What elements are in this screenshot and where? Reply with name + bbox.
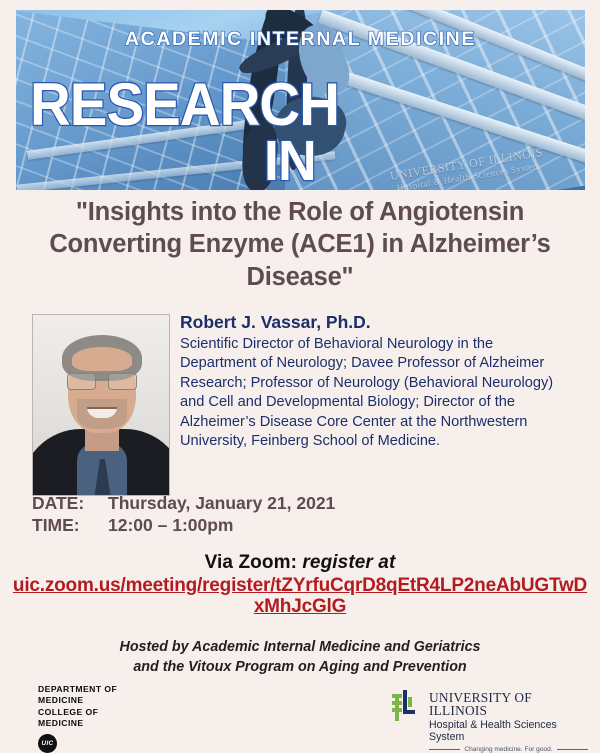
time-label: TIME: [32,514,108,536]
uofi-mark-icon [392,690,422,721]
uofi-logo-title: UNIVERSITY OF ILLINOIS [429,691,588,718]
banner-word-in-practice: IN PRACTICE [264,128,566,190]
date-value: Thursday, January 21, 2021 [108,492,335,514]
uic-logo-line-1: DEPARTMENT OF [38,684,198,695]
registration-lead-text: Via Zoom: [205,552,297,573]
registration-lead-italic: register at [302,552,395,573]
registration-lead: Via Zoom: register at [8,552,592,574]
talk-title: "Insights into the Role of Angiotensin C… [26,196,574,293]
event-details: DATE: Thursday, January 21, 2021 TIME: 1… [32,492,335,537]
registration-link[interactable]: uic.zoom.us/meeting/register/tZYrfuCqrD8… [8,575,592,618]
registration-section: Via Zoom: register at uic.zoom.us/meetin… [8,552,592,618]
time-value: 12:00 – 1:00pm [108,514,234,536]
uic-logo-line-4: MEDICINE [38,718,198,729]
uic-logo-line-3: COLLEGE OF [38,707,198,718]
event-date-row: DATE: Thursday, January 21, 2021 [32,492,335,514]
uofi-logo-tagline-row: Changing medicine. For good. [429,746,588,753]
eyeglasses-icon [67,373,137,388]
date-label: DATE: [32,492,108,514]
uofi-logo-subtitle: Hospital & Health Sciences System [429,719,588,744]
hosted-by: Hosted by Academic Internal Medicine and… [30,638,570,677]
hosted-by-line-2: and the Vitoux Program on Aging and Prev… [30,658,570,678]
banner-kicker: ACADEMIC INTERNAL MEDICINE [16,28,585,51]
uic-department-logo: DEPARTMENT OF MEDICINE COLLEGE OF MEDICI… [38,684,198,753]
uic-logo-line-2: MEDICINE [38,695,198,706]
uofi-logo-tagline: Changing medicine. For good. [464,746,552,753]
header-banner: UNIVERSITY OF ILLINOIS Hospital & Health… [16,10,585,190]
uic-badge-icon: UIC [38,734,57,753]
speaker-portrait-photo [32,314,170,496]
speaker-name: Robert J. Vassar, Ph.D. [180,312,572,333]
hosted-by-line-1: Hosted by Academic Internal Medicine and… [30,638,570,658]
event-time-row: TIME: 12:00 – 1:00pm [32,514,335,536]
speaker-bio: Scientific Director of Behavioral Neurol… [180,335,572,451]
university-of-illinois-logo: UNIVERSITY OF ILLINOIS Hospital & Health… [392,690,588,753]
